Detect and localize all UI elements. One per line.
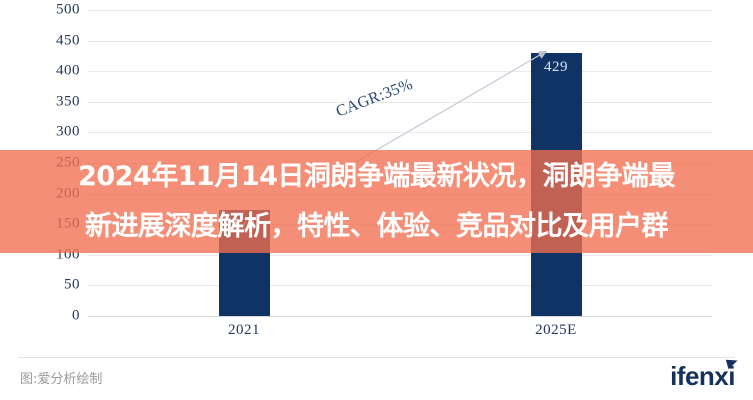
x-axis-tick-label: 2025E — [486, 322, 626, 339]
gridline — [88, 285, 712, 286]
y-axis-tick-label: 350 — [20, 93, 80, 110]
gridline — [88, 132, 712, 133]
axis-baseline — [88, 316, 712, 317]
gridline — [88, 71, 712, 72]
x-axis-tick-label: 2021 — [174, 322, 314, 339]
footer-divider — [18, 357, 735, 358]
arrow-swoosh-icon — [726, 357, 739, 370]
overlay-headline-line-1: 2024年11月14日洞朗争端最新状况，洞朗争端最 — [78, 152, 675, 202]
brand-logo-text: ifenxi — [670, 361, 735, 391]
y-axis-tick-label: 0 — [20, 308, 80, 325]
gridline — [88, 41, 712, 42]
gridline — [88, 10, 712, 11]
overlay-headline-banner: 2024年11月14日洞朗争端最新状况，洞朗争端最 新进展深度解析，特性、体验、… — [0, 150, 753, 253]
y-axis-tick-label: 450 — [20, 32, 80, 49]
y-axis-tick-label: 50 — [20, 277, 80, 294]
y-axis-tick-label: 400 — [20, 63, 80, 80]
source-note: 图:爱分析绘制 — [20, 368, 102, 387]
y-axis-tick-label: 300 — [20, 124, 80, 141]
gridline — [88, 255, 712, 256]
gridline — [88, 102, 712, 103]
overlay-headline-line-2: 新进展深度解析，特性、体验、竞品对比及用户群 — [85, 202, 668, 252]
y-axis-tick-label: 500 — [20, 2, 80, 19]
bar-value-label: 429 — [531, 59, 582, 76]
brand-logo: ifenxi — [670, 363, 735, 389]
